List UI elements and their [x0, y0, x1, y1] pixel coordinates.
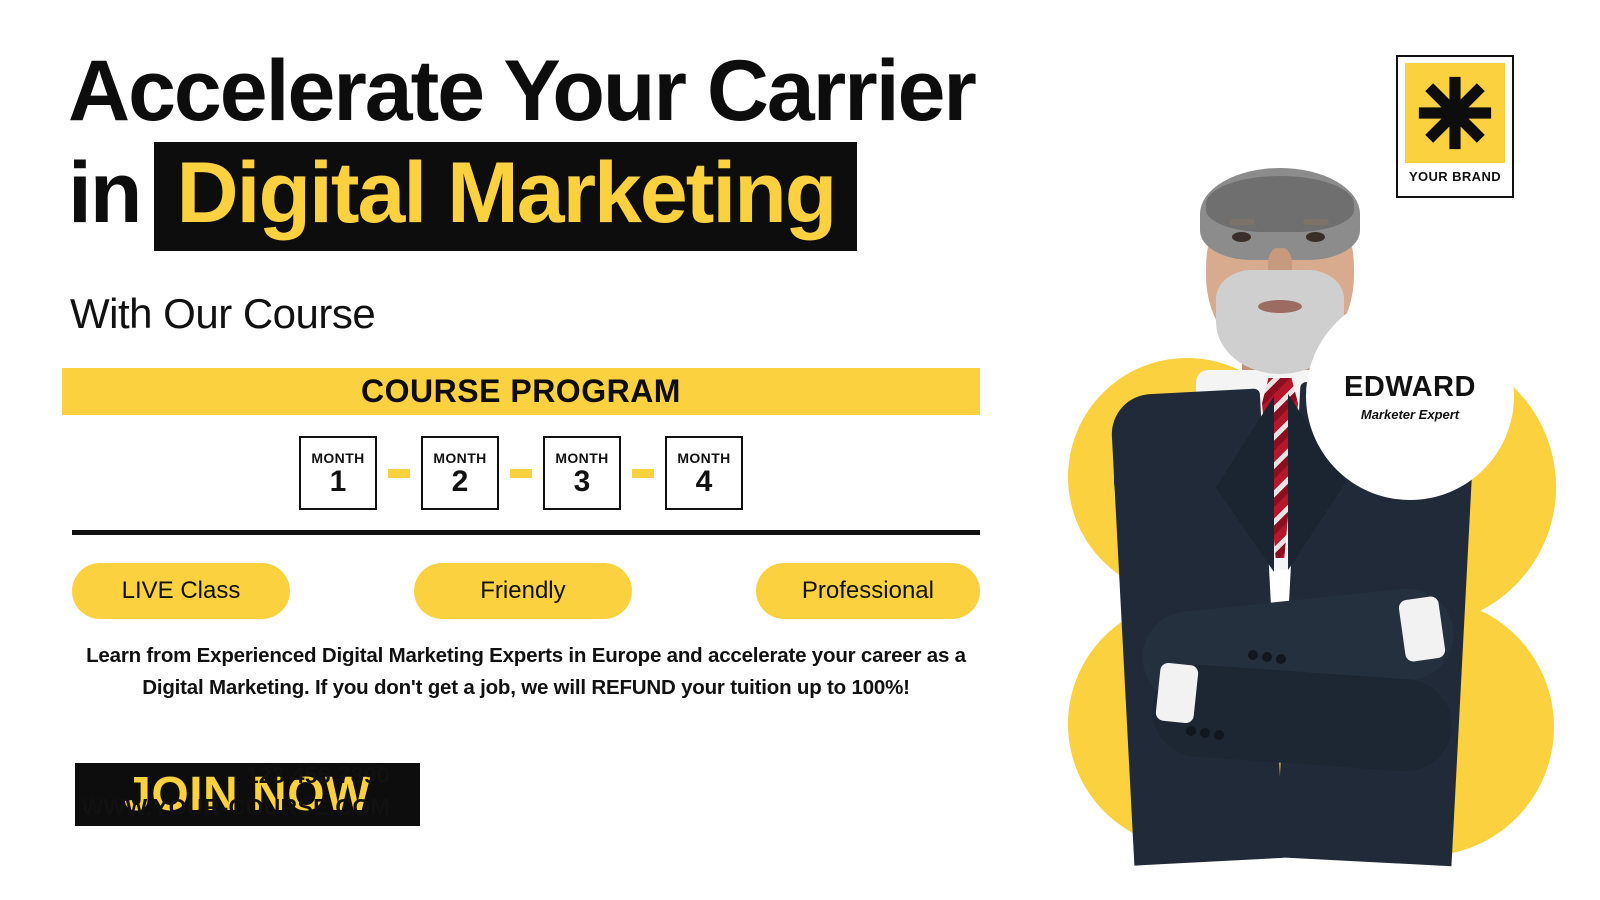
- contact-phone[interactable]: 123 456 7890: [81, 762, 390, 789]
- month-number: 2: [452, 467, 469, 497]
- contact-block: 123 456 7890 WWW.YOUR-COURSE.COM: [81, 762, 390, 821]
- poster-canvas: Accelerate Your Carrier inDigital Market…: [0, 0, 1600, 900]
- timeline-connector-dash: [388, 469, 410, 478]
- month-label: MONTH: [677, 450, 730, 466]
- portrait-sleeve-button: [1262, 652, 1272, 662]
- month-number: 3: [574, 467, 591, 497]
- portrait-sleeve-button: [1214, 730, 1224, 740]
- portrait-sleeve-button: [1248, 650, 1258, 660]
- month-box: MONTH 1: [299, 436, 377, 510]
- month-number: 1: [330, 467, 347, 497]
- headline-block: Accelerate Your Carrier inDigital Market…: [68, 48, 998, 251]
- month-label: MONTH: [555, 450, 608, 466]
- portrait-eyebrow-left: [1229, 219, 1255, 225]
- portrait-cuff-right: [1398, 596, 1446, 663]
- feature-pill-live-class[interactable]: LIVE Class: [72, 563, 290, 619]
- portrait-sleeve-button: [1200, 728, 1210, 738]
- month-label: MONTH: [433, 450, 486, 466]
- section-divider: [72, 530, 980, 535]
- month-number: 4: [696, 467, 713, 497]
- instructor-name-badge: EDWARD Marketer Expert: [1306, 292, 1514, 500]
- portrait-eye-left: [1232, 232, 1251, 242]
- course-program-title: COURSE PROGRAM: [361, 373, 681, 410]
- timeline-connector-dash: [632, 469, 654, 478]
- instructor-role: Marketer Expert: [1361, 407, 1459, 422]
- month-label: MONTH: [311, 450, 364, 466]
- headline-line-2-prefix: in: [68, 150, 140, 236]
- feature-pill-professional[interactable]: Professional: [756, 563, 980, 619]
- subheadline: With Our Course: [70, 290, 375, 338]
- right-visual-area: EDWARD Marketer Expert: [1010, 0, 1600, 900]
- portrait-sleeve-button: [1276, 654, 1286, 664]
- feature-pill-row: LIVE Class Friendly Professional: [72, 562, 980, 620]
- portrait-hair-top: [1206, 176, 1354, 232]
- portrait-cuff-left: [1155, 662, 1199, 724]
- timeline-connector-dash: [510, 469, 532, 478]
- month-box: MONTH 4: [665, 436, 743, 510]
- headline-line-2: inDigital Marketing: [68, 142, 998, 251]
- course-program-banner: COURSE PROGRAM: [62, 368, 980, 415]
- feature-pill-friendly[interactable]: Friendly: [414, 563, 632, 619]
- instructor-name: EDWARD: [1344, 371, 1476, 404]
- portrait-eye-right: [1306, 232, 1325, 242]
- contact-website[interactable]: WWW.YOUR-COURSE.COM: [81, 794, 390, 821]
- portrait-eyebrow-right: [1303, 219, 1329, 225]
- description-text: Learn from Experienced Digital Marketing…: [72, 640, 980, 704]
- headline-highlight: Digital Marketing: [154, 142, 857, 251]
- left-content-area: Accelerate Your Carrier inDigital Market…: [0, 0, 1010, 900]
- headline-line-1: Accelerate Your Carrier: [68, 48, 998, 134]
- portrait-mouth: [1258, 300, 1302, 313]
- month-timeline: MONTH 1 MONTH 2 MONTH 3 MONTH 4: [62, 432, 980, 514]
- month-box: MONTH 3: [543, 436, 621, 510]
- month-box: MONTH 2: [421, 436, 499, 510]
- portrait-sleeve-button: [1186, 726, 1196, 736]
- instructor-portrait: [1010, 0, 1600, 900]
